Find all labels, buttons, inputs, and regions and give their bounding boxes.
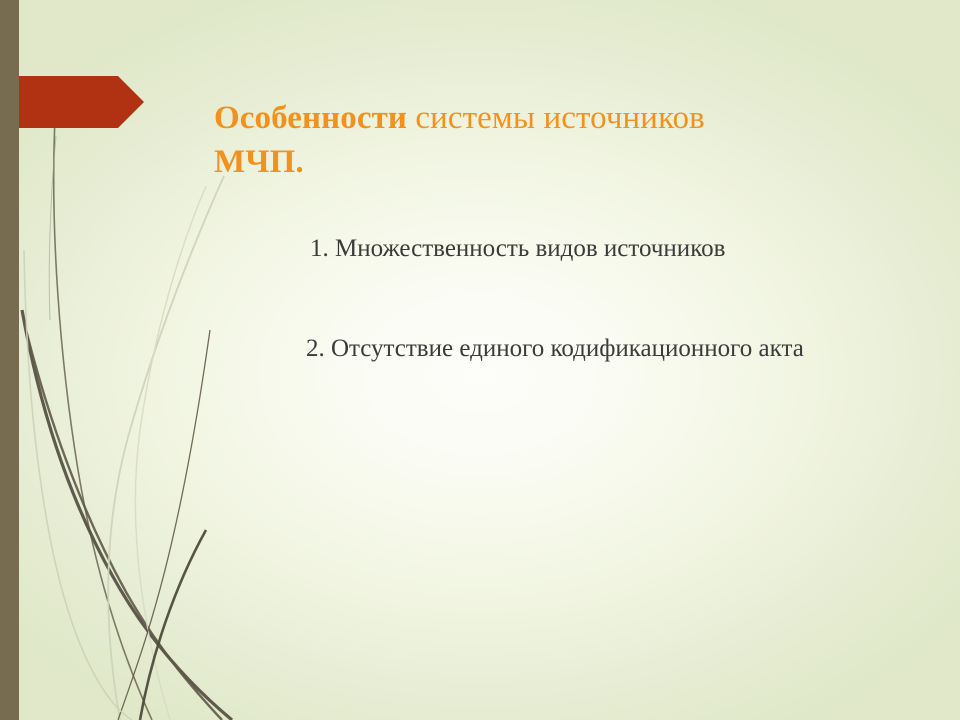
slide-canvas: Особенности системы источников МЧП. 1. М… (0, 0, 960, 720)
slide-body: 1. Множественность видов источников 2. О… (248, 228, 908, 370)
slide-title-emphasis: Особенности (214, 100, 407, 136)
body-item-2: 2. Отсутствие единого кодификационного а… (248, 328, 908, 370)
slide-title: Особенности системы источников МЧП. (214, 96, 914, 184)
arrow-banner-shape (0, 76, 144, 128)
body-item-1: 1. Множественность видов источников (248, 228, 908, 270)
left-vertical-stripe (0, 0, 19, 720)
slide-title-line2: МЧП. (214, 140, 914, 184)
slide-title-rest: системы источников (407, 100, 705, 136)
